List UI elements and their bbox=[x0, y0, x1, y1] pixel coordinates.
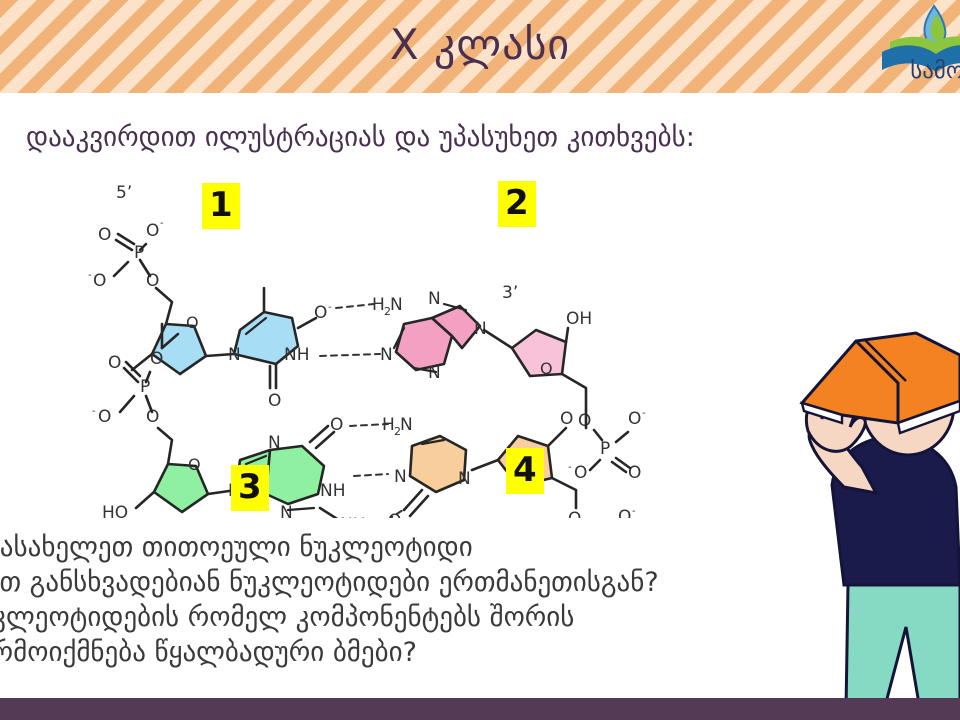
logo-wordmark: სამო bbox=[910, 58, 960, 84]
svg-text:O: O bbox=[628, 463, 641, 483]
cartoon-student-with-book bbox=[780, 255, 960, 710]
slide-header: X კლასი სამო bbox=[0, 0, 960, 93]
nucleotide-marker-1: 1 bbox=[202, 183, 240, 229]
svg-text:O: O bbox=[628, 409, 641, 429]
dna-structure-svg: 5’ O O - P O - O O N bbox=[88, 178, 698, 518]
svg-text:P: P bbox=[140, 377, 150, 397]
question-1: დაასახელეთ თითოეული ნუკლეოტიდი bbox=[0, 530, 894, 565]
svg-text:O: O bbox=[388, 511, 401, 518]
svg-text:-: - bbox=[632, 506, 636, 517]
svg-text:H: H bbox=[372, 295, 385, 315]
svg-text:N: N bbox=[428, 289, 441, 309]
page-title: X კლასი bbox=[0, 0, 960, 93]
instruction-text: დააკვირდით ილუსტრაციას და უპასუხეთ კითხვ… bbox=[26, 122, 695, 153]
svg-text:-: - bbox=[88, 270, 92, 281]
svg-text:N: N bbox=[380, 345, 393, 365]
svg-text:N: N bbox=[400, 415, 413, 435]
svg-text:NH: NH bbox=[284, 345, 310, 365]
bottom-accent-bar bbox=[0, 698, 960, 720]
svg-text:O: O bbox=[268, 391, 281, 411]
svg-text:-: - bbox=[642, 408, 646, 419]
svg-text:O: O bbox=[574, 463, 587, 483]
svg-text:-: - bbox=[568, 462, 572, 473]
svg-text:-: - bbox=[328, 302, 332, 313]
svg-text:O: O bbox=[330, 415, 343, 435]
svg-text:O: O bbox=[98, 225, 111, 245]
question-3: ნუკლეოტიდების რომელ კომპონენტებს შორის bbox=[0, 600, 894, 635]
svg-text:O: O bbox=[540, 359, 553, 378]
svg-text:OH: OH bbox=[566, 309, 592, 329]
end-label-5prime: 5’ bbox=[116, 183, 132, 203]
questions-block: დაასახელეთ თითოეული ნუკლეოტიდი რით განსხ… bbox=[0, 530, 894, 670]
svg-text:O: O bbox=[108, 353, 121, 373]
svg-text:O: O bbox=[93, 271, 106, 291]
svg-text:HO: HO bbox=[102, 503, 128, 518]
question-2: რით განსხვადებიან ნუკლეოტიდები ერთმანეთი… bbox=[0, 565, 894, 600]
slide: X კლასი სამო დააკვირდით ილუსტრაციას და უ… bbox=[0, 0, 960, 720]
nucleotide-marker-3: 3 bbox=[231, 465, 269, 511]
svg-text:O: O bbox=[146, 221, 159, 241]
svg-text:O: O bbox=[314, 303, 327, 323]
svg-text:N: N bbox=[390, 295, 403, 315]
svg-text:NH: NH bbox=[340, 515, 366, 518]
svg-text:H: H bbox=[382, 415, 395, 435]
svg-text:O: O bbox=[98, 407, 111, 427]
svg-text:O: O bbox=[188, 455, 201, 474]
svg-text:O: O bbox=[186, 313, 199, 332]
svg-text:O: O bbox=[578, 411, 591, 431]
svg-text:O: O bbox=[146, 407, 159, 427]
svg-text:N: N bbox=[228, 345, 241, 365]
question-4: წარმოიქმნება წყალბადური ბმები? bbox=[0, 635, 894, 670]
end-label-3prime: 3’ bbox=[502, 283, 518, 303]
svg-text:-: - bbox=[160, 218, 164, 229]
svg-text:P: P bbox=[600, 439, 610, 459]
svg-text:O: O bbox=[560, 409, 573, 429]
svg-text:O: O bbox=[568, 509, 581, 518]
svg-text:O: O bbox=[150, 349, 163, 369]
svg-text:O: O bbox=[618, 507, 631, 518]
svg-text:N: N bbox=[394, 467, 407, 487]
svg-text:N: N bbox=[428, 363, 441, 383]
svg-text:NH: NH bbox=[320, 481, 346, 501]
nucleotide-marker-4: 4 bbox=[506, 448, 544, 494]
dna-illustration: 5’ O O - P O - O O N bbox=[88, 178, 698, 518]
svg-text:N: N bbox=[458, 469, 471, 489]
nucleotide-marker-2: 2 bbox=[498, 181, 536, 227]
svg-text:-: - bbox=[92, 406, 96, 417]
